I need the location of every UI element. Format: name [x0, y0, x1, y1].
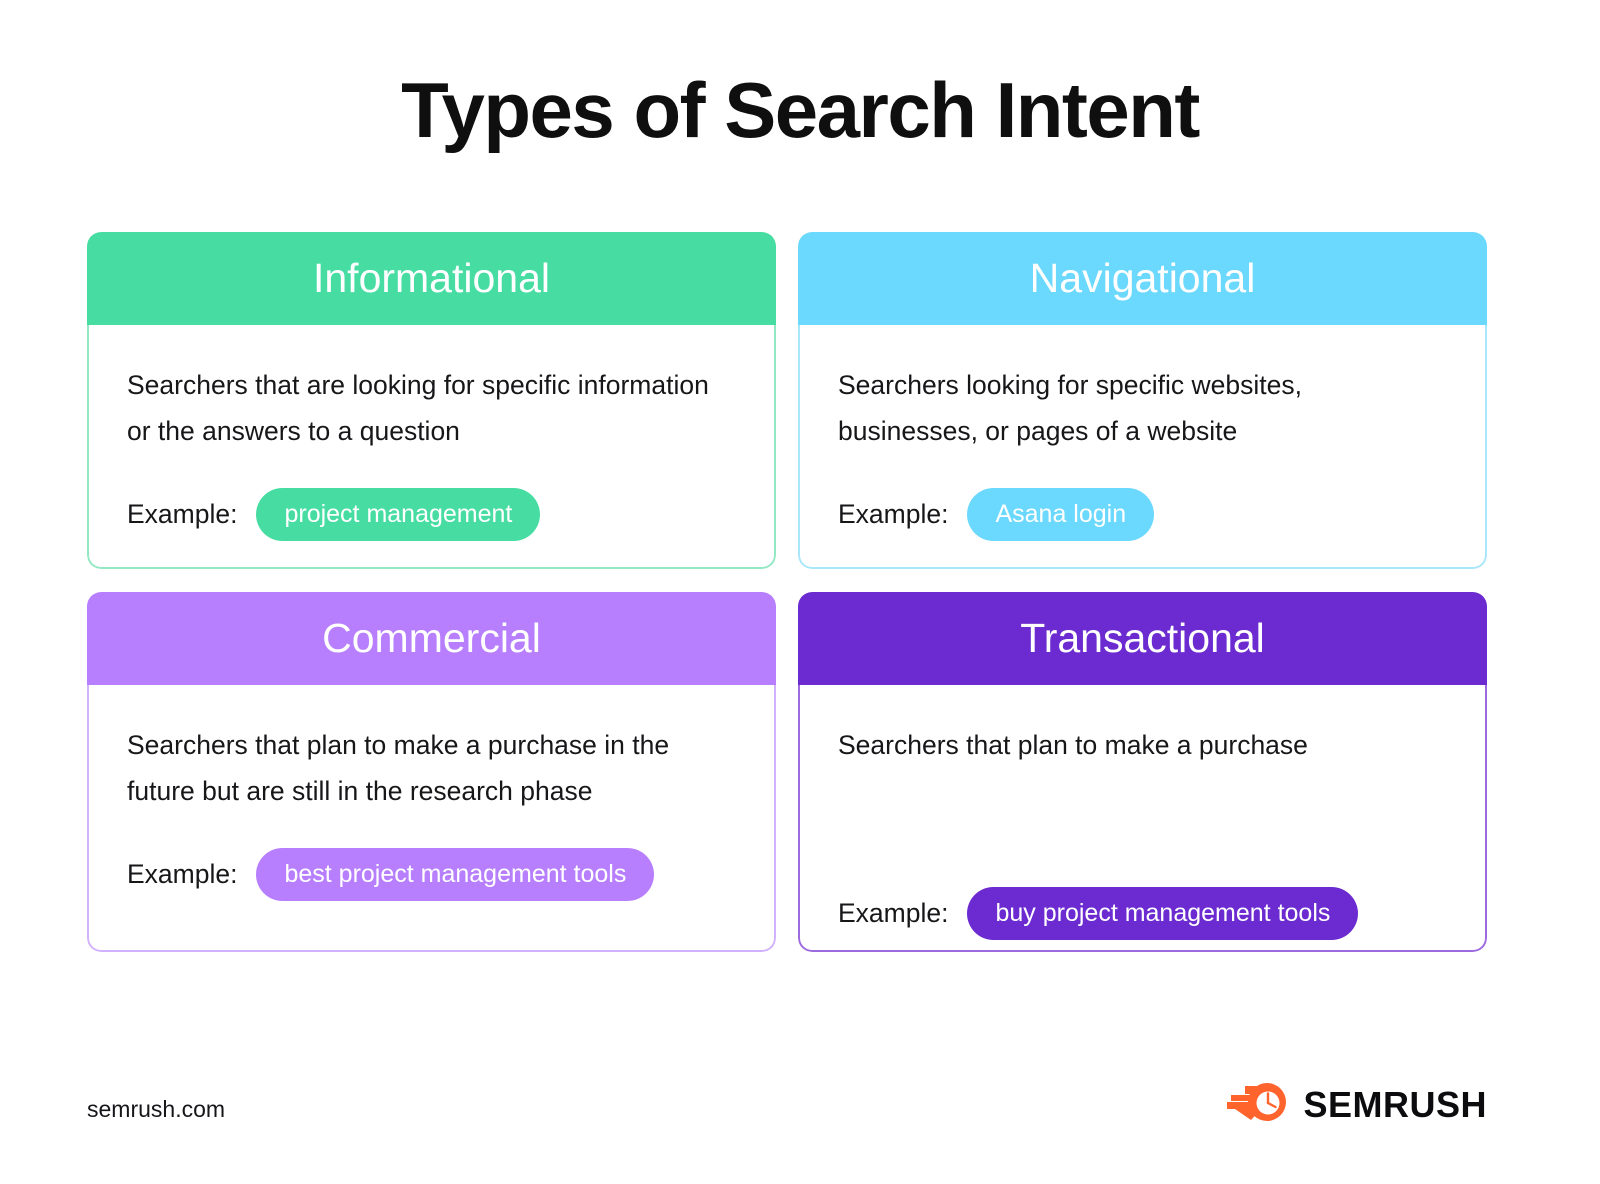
- card-header-informational: Informational: [87, 232, 776, 325]
- example-row-navigational: Example: Asana login: [838, 488, 1447, 541]
- card-body-transactional: Searchers that plan to make a purchase E…: [798, 685, 1487, 952]
- example-label-navigational: Example:: [838, 499, 948, 530]
- infographic-page: Types of Search Intent Informational Sea…: [0, 0, 1600, 1184]
- example-pill-informational[interactable]: project management: [256, 488, 540, 541]
- card-description-transactional: Searchers that plan to make a purchase: [838, 723, 1438, 769]
- example-label-transactional: Example:: [838, 898, 948, 929]
- card-body-commercial: Searchers that plan to make a purchase i…: [87, 685, 776, 952]
- card-header-commercial: Commercial: [87, 592, 776, 685]
- footer-url[interactable]: semrush.com: [87, 1096, 225, 1123]
- semrush-wordmark: SEMRUSH: [1303, 1087, 1487, 1123]
- example-label-informational: Example:: [127, 499, 237, 530]
- footer: semrush.com SEMRUSH: [0, 1064, 1600, 1184]
- example-pill-navigational[interactable]: Asana login: [967, 488, 1154, 541]
- card-title-informational: Informational: [313, 258, 550, 299]
- intent-card-grid: Informational Searchers that are looking…: [87, 232, 1487, 952]
- example-row-informational: Example: project management: [127, 488, 736, 541]
- card-commercial: Commercial Searchers that plan to make a…: [87, 592, 776, 952]
- card-body-navigational: Searchers looking for specific websites,…: [798, 325, 1487, 569]
- example-row-commercial: Example: best project management tools: [127, 848, 736, 901]
- example-row-transactional: Example: buy project management tools: [838, 887, 1447, 940]
- card-description-informational: Searchers that are looking for specific …: [127, 363, 727, 454]
- card-header-transactional: Transactional: [798, 592, 1487, 685]
- semrush-comet-icon: [1227, 1082, 1289, 1127]
- card-title-navigational: Navigational: [1030, 258, 1256, 299]
- example-pill-commercial[interactable]: best project management tools: [256, 848, 654, 901]
- card-informational: Informational Searchers that are looking…: [87, 232, 776, 569]
- card-description-navigational: Searchers looking for specific websites,…: [838, 363, 1438, 454]
- card-description-commercial: Searchers that plan to make a purchase i…: [127, 723, 727, 814]
- card-title-transactional: Transactional: [1020, 618, 1265, 659]
- card-header-navigational: Navigational: [798, 232, 1487, 325]
- card-transactional: Transactional Searchers that plan to mak…: [798, 592, 1487, 952]
- card-body-informational: Searchers that are looking for specific …: [87, 325, 776, 569]
- semrush-logo[interactable]: SEMRUSH: [1227, 1082, 1487, 1127]
- card-navigational: Navigational Searchers looking for speci…: [798, 232, 1487, 569]
- page-title: Types of Search Intent: [0, 68, 1600, 154]
- example-pill-transactional[interactable]: buy project management tools: [967, 887, 1358, 940]
- card-title-commercial: Commercial: [322, 618, 541, 659]
- example-label-commercial: Example:: [127, 859, 237, 890]
